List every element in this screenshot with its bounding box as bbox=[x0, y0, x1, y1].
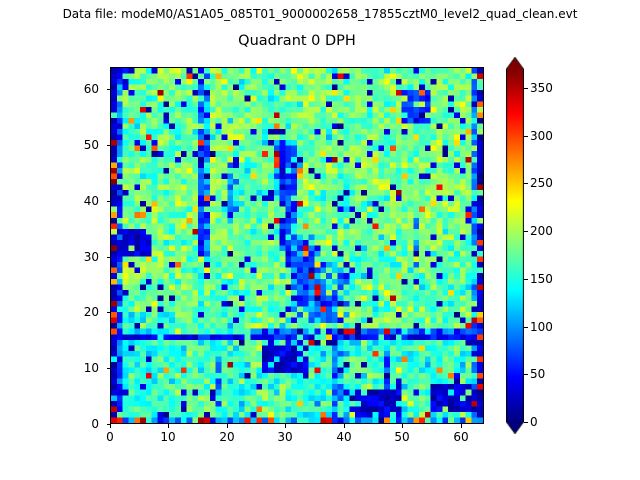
colorbar-tick-label: 300 bbox=[530, 129, 553, 143]
colorbar-tick-mark bbox=[524, 183, 528, 184]
colorbar-tick-label: 100 bbox=[530, 320, 553, 334]
colorbar-tick-mark bbox=[524, 136, 528, 137]
x-tick-label: 50 bbox=[382, 430, 422, 444]
matplotlib-figure: Data file: modeM0/AS1A05_085T01_90000026… bbox=[0, 0, 640, 480]
colorbar-tick-mark bbox=[524, 279, 528, 280]
y-tick-mark bbox=[107, 89, 111, 90]
colorbar-tick-mark bbox=[524, 231, 528, 232]
y-tick-mark bbox=[107, 424, 111, 425]
x-tick-label: 40 bbox=[324, 430, 364, 444]
x-tick-mark bbox=[168, 424, 169, 428]
y-tick-label: 60 bbox=[59, 82, 99, 96]
y-tick-mark bbox=[107, 312, 111, 313]
colorbar-tick-mark bbox=[524, 88, 528, 89]
page-title: Quadrant 0 DPH bbox=[110, 32, 484, 50]
colorbar-gradient[interactable] bbox=[506, 57, 524, 434]
colorbar-tick-label: 50 bbox=[530, 367, 545, 381]
colorbar-tick-label: 0 bbox=[530, 415, 538, 429]
heatmap-image[interactable] bbox=[111, 68, 483, 423]
x-tick-mark bbox=[227, 424, 228, 428]
y-tick-mark bbox=[107, 368, 111, 369]
x-tick-mark bbox=[402, 424, 403, 428]
x-tick-mark bbox=[110, 424, 111, 428]
y-tick-label: 40 bbox=[59, 194, 99, 208]
x-tick-mark bbox=[344, 424, 345, 428]
colorbar[interactable] bbox=[506, 57, 524, 434]
x-tick-label: 10 bbox=[148, 430, 188, 444]
data-file-suptitle: Data file: modeM0/AS1A05_085T01_90000026… bbox=[0, 7, 640, 21]
y-tick-label: 0 bbox=[59, 417, 99, 431]
y-tick-label: 50 bbox=[59, 138, 99, 152]
heatmap-axes[interactable] bbox=[110, 67, 484, 424]
y-tick-mark bbox=[107, 201, 111, 202]
colorbar-tick-mark bbox=[524, 422, 528, 423]
y-tick-label: 30 bbox=[59, 250, 99, 264]
y-tick-mark bbox=[107, 145, 111, 146]
y-tick-label: 10 bbox=[59, 361, 99, 375]
colorbar-tick-label: 200 bbox=[530, 224, 553, 238]
colorbar-tick-label: 250 bbox=[530, 176, 553, 190]
colorbar-tick-label: 350 bbox=[530, 81, 553, 95]
colorbar-tick-mark bbox=[524, 374, 528, 375]
colorbar-tick-label: 150 bbox=[530, 272, 553, 286]
y-tick-label: 20 bbox=[59, 305, 99, 319]
x-tick-mark bbox=[461, 424, 462, 428]
colorbar-tick-mark bbox=[524, 327, 528, 328]
x-tick-mark bbox=[285, 424, 286, 428]
y-tick-mark bbox=[107, 257, 111, 258]
x-tick-label: 20 bbox=[207, 430, 247, 444]
x-tick-label: 30 bbox=[265, 430, 305, 444]
x-tick-label: 60 bbox=[441, 430, 481, 444]
x-tick-label: 0 bbox=[90, 430, 130, 444]
